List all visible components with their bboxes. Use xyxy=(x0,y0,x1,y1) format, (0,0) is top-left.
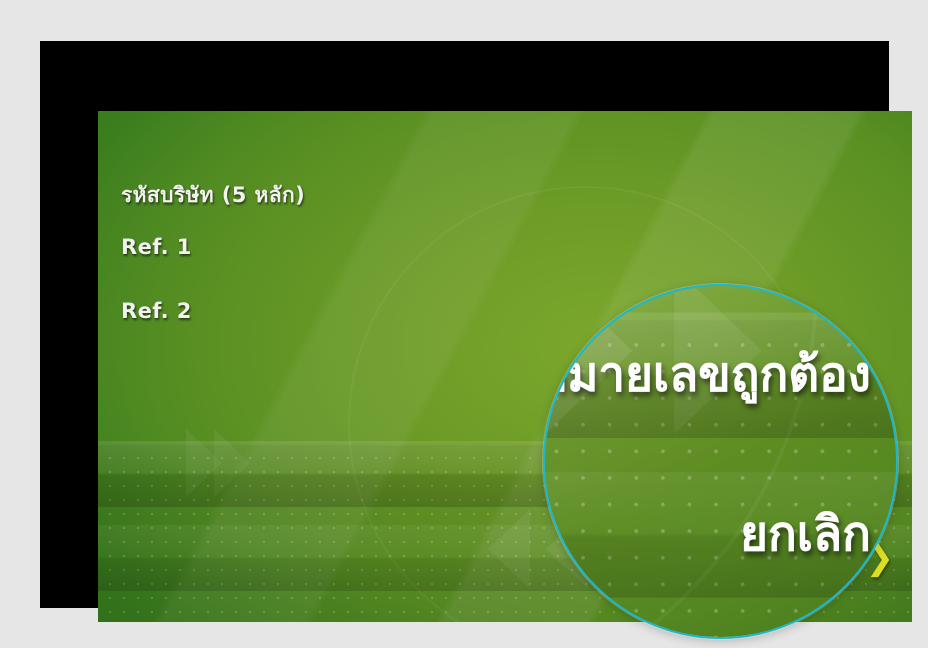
magnified-screen-vignette xyxy=(543,284,898,639)
magnifier-loupe: หมายเลขถูกต้อง ❯ ยกเลิก ❯ xyxy=(543,284,898,639)
company-code-field-label: รหัสบริษัท (5 หลัก) xyxy=(121,179,305,212)
ref2-field-label: Ref. 2 xyxy=(121,299,192,323)
ref1-field-label: Ref. 1 xyxy=(121,235,192,259)
magnifier-content: หมายเลขถูกต้อง ❯ ยกเลิก ❯ xyxy=(543,284,898,639)
